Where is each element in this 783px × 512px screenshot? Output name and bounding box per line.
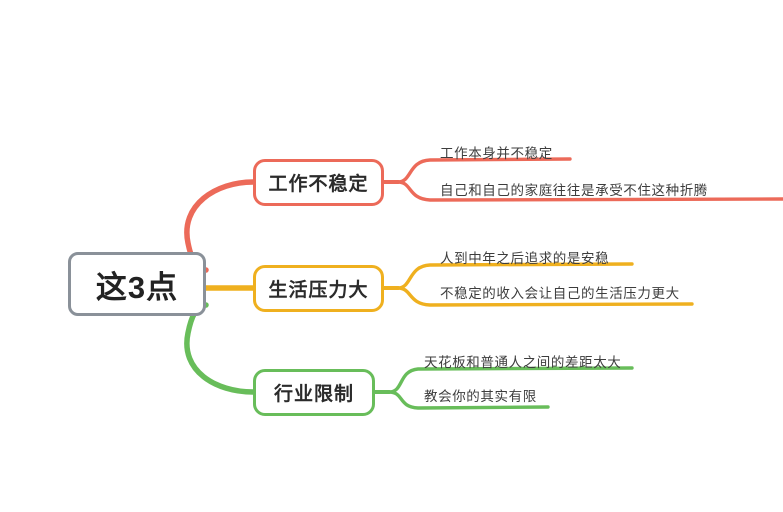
leaf-node-2-1[interactable]: 人到中年之后追求的是安稳 <box>440 247 609 267</box>
branch-node-2[interactable]: 生活压力大 <box>253 265 384 312</box>
branch-node-1[interactable]: 工作不稳定 <box>253 159 384 206</box>
mindmap-canvas: 这3点 工作不稳定 生活压力大 行业限制 工作本身并不稳定 自己和自己的家庭往往… <box>0 0 783 512</box>
connector-root-to-branch-3 <box>187 305 253 392</box>
branch-node-1-label: 工作不稳定 <box>268 169 368 196</box>
leaf-node-3-2[interactable]: 教会你的其实有限 <box>424 385 537 405</box>
branch-node-2-label: 生活压力大 <box>268 275 368 302</box>
leaf-node-2-2[interactable]: 不稳定的收入会让自己的生活压力更大 <box>440 282 680 302</box>
branch-node-3-label: 行业限制 <box>274 379 354 406</box>
root-node-label: 这3点 <box>96 262 178 307</box>
root-node[interactable]: 这3点 <box>68 252 206 316</box>
leaf-node-1-2[interactable]: 自己和自己的家庭往往是承受不住这种折腾 <box>440 179 708 199</box>
leaf-node-3-1[interactable]: 天花板和普通人之间的差距太大 <box>424 351 621 371</box>
branch-node-3[interactable]: 行业限制 <box>253 369 375 416</box>
leaf-node-1-1[interactable]: 工作本身并不稳定 <box>440 142 553 162</box>
